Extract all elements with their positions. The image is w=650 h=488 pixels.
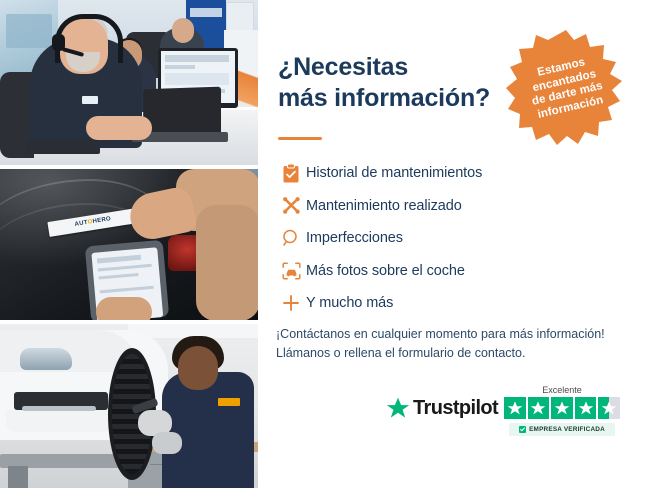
clipboard-check-icon — [276, 164, 306, 183]
feature-item-mantenimiento[interactable]: Mantenimiento realizado — [276, 190, 576, 223]
car-photo-frame-icon — [276, 262, 306, 280]
feature-label: Historial de mantenimientos — [306, 165, 482, 181]
contact-line-1: ¡Contáctanos en cualquier momento para m… — [276, 327, 605, 341]
crossed-tools-icon — [276, 196, 306, 215]
feature-label: Imperfecciones — [306, 230, 403, 246]
mechanic-wheel-photo — [0, 324, 258, 488]
call-center-agent-photo — [0, 0, 258, 165]
magnifier-icon — [276, 229, 306, 247]
feature-item-imperfecciones[interactable]: Imperfecciones — [276, 222, 576, 255]
title-divider — [278, 137, 322, 140]
trustpilot-logo: Trustpilot — [386, 397, 498, 420]
plus-icon — [276, 294, 306, 312]
trustpilot-widget[interactable]: Trustpilot Excelente — [386, 385, 626, 447]
star-rating — [504, 397, 620, 419]
headset-icon — [494, 39, 517, 59]
content-panel: ¿Necesitas más información? Estamos enca… — [258, 0, 650, 488]
photo-collage: AUTOHERO — [0, 0, 258, 488]
trustpilot-rating: Excelente — [498, 385, 626, 436]
rating-label: Excelente — [504, 385, 620, 395]
car-inspection-photo: AUTOHERO — [0, 169, 258, 320]
trustpilot-name: Trustpilot — [413, 397, 498, 420]
contact-line-2: Llámanos o rellena el formulario de cont… — [276, 346, 525, 360]
star-filled — [528, 397, 550, 419]
contact-text: ¡Contáctanos en cualquier momento para m… — [276, 325, 636, 363]
headline-line-2: más información? — [278, 84, 490, 112]
star-half — [598, 397, 620, 419]
feature-list: Historial de mantenimientos M — [276, 157, 576, 320]
verified-badge: EMPRESA VERIFICADA — [509, 423, 615, 436]
headline-line-1: ¿Necesitas — [278, 53, 408, 81]
feature-item-mas[interactable]: Y mucho más — [276, 287, 576, 320]
verified-label: EMPRESA VERIFICADA — [529, 426, 605, 433]
star-filled — [504, 397, 526, 419]
page-title: ¿Necesitas más información? — [278, 52, 528, 114]
trustpilot-star-icon — [386, 397, 410, 420]
feature-item-historial[interactable]: Historial de mantenimientos — [276, 157, 576, 190]
check-square-icon — [519, 426, 526, 433]
feature-label: Mantenimiento realizado — [306, 198, 462, 214]
support-badge: Estamos encantados de darte más informac… — [506, 28, 626, 148]
feature-label: Y mucho más — [306, 295, 393, 311]
feature-item-fotos[interactable]: Más fotos sobre el coche — [276, 255, 576, 288]
info-card: AUTOHERO — [0, 0, 650, 488]
star-filled — [551, 397, 573, 419]
feature-label: Más fotos sobre el coche — [306, 263, 465, 279]
star-filled — [575, 397, 597, 419]
